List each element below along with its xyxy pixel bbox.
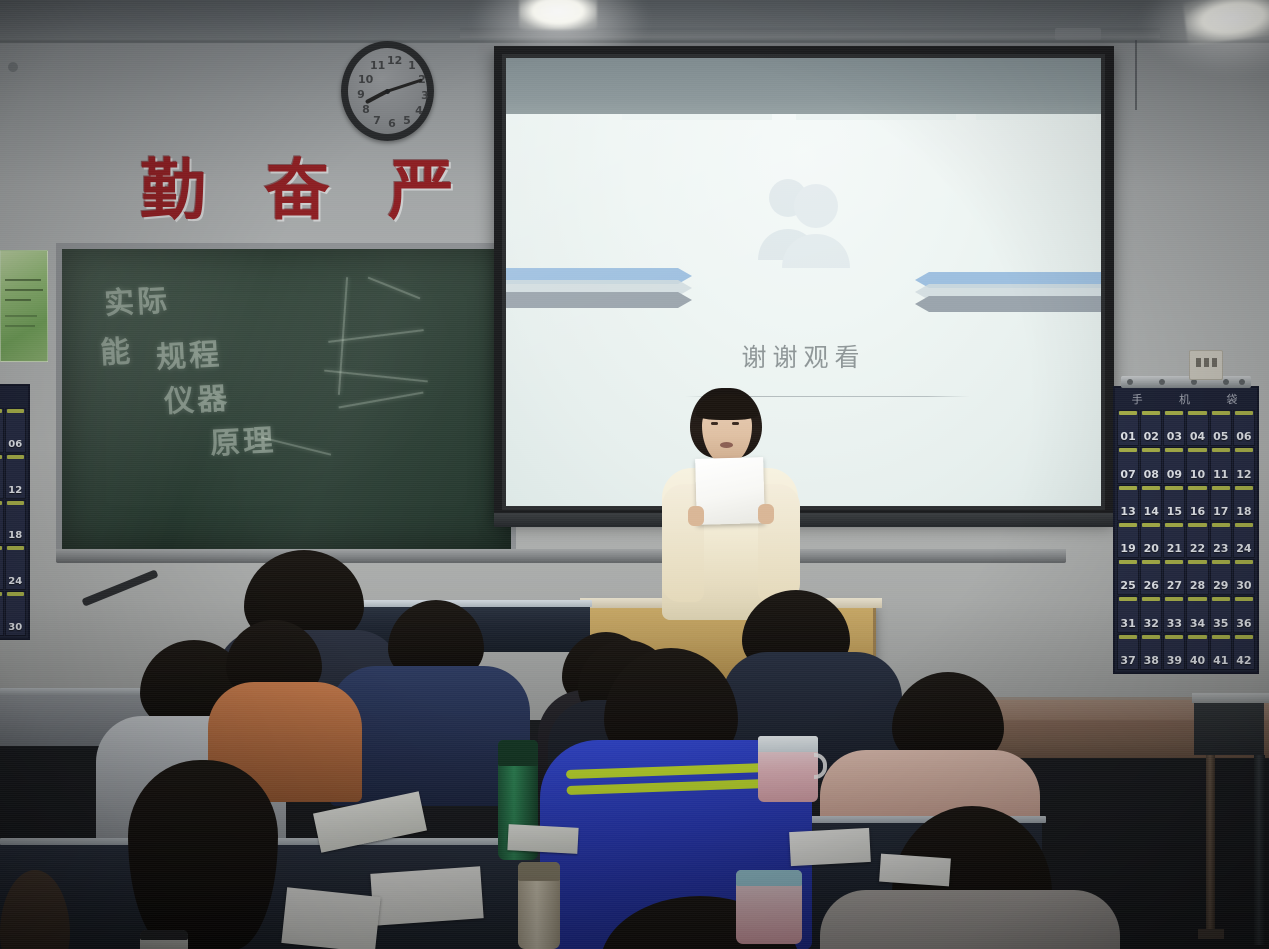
pocket-chart-header: 手 机 袋 bbox=[1115, 390, 1257, 408]
slide-banner-right bbox=[911, 270, 1101, 314]
pink-mug[interactable] bbox=[758, 736, 818, 802]
wall-fixture-dot bbox=[1120, 13, 1128, 21]
people-group-icon bbox=[744, 164, 864, 288]
phone-pocket-slot[interactable]: 05 bbox=[0, 408, 4, 453]
chalk-note: 能 bbox=[99, 326, 134, 372]
clock-numeral: 1 bbox=[405, 59, 419, 72]
pocket-header-char-3: 袋 bbox=[1226, 391, 1240, 407]
clock-numeral: 6 bbox=[385, 117, 399, 130]
student-head bbox=[128, 760, 278, 949]
power-outlet[interactable] bbox=[1189, 350, 1223, 380]
presenter-hand bbox=[688, 506, 704, 526]
microphone bbox=[81, 569, 158, 606]
clock-numeral: 10 bbox=[358, 73, 372, 86]
wall-vent bbox=[1055, 28, 1101, 40]
slide-banner-left bbox=[506, 266, 696, 310]
slogan-char-3: 严 bbox=[388, 158, 456, 224]
wall-notice-poster bbox=[0, 250, 48, 362]
phone-pocket-slot[interactable]: 14 bbox=[1140, 485, 1162, 521]
worksheet[interactable] bbox=[789, 828, 871, 866]
textbook[interactable] bbox=[507, 824, 578, 854]
wall-clock: 12 1 2 3 4 5 6 7 8 9 10 11 bbox=[341, 41, 434, 141]
clock-numeral: 4 bbox=[412, 104, 426, 117]
desk-surface bbox=[330, 600, 592, 607]
thermos-bottle[interactable] bbox=[140, 930, 188, 949]
phone-pocket-slot[interactable]: 06 bbox=[5, 408, 27, 453]
phone-pocket-slot[interactable]: 11 bbox=[0, 454, 4, 499]
slide-title: 谢谢观看 bbox=[506, 338, 1101, 374]
clock-numeral: 5 bbox=[400, 114, 414, 127]
pocket-header-char-2: 机 bbox=[1179, 391, 1193, 407]
pocket-header-char-1: 手 bbox=[1132, 391, 1146, 407]
pocket-chart-rail bbox=[1121, 376, 1251, 388]
phone-pocket-slot[interactable]: 05 bbox=[1210, 410, 1232, 446]
worksheet[interactable] bbox=[281, 887, 380, 949]
thermos-bottle[interactable] bbox=[518, 862, 560, 949]
wall-cable bbox=[1135, 40, 1137, 110]
chalk-note: 规程 bbox=[155, 329, 223, 376]
green-chalkboard: 实际 能 规程 仪器 原理 bbox=[56, 243, 516, 556]
student-torso bbox=[820, 890, 1120, 949]
phone-pocket-slot[interactable]: 04 bbox=[1186, 410, 1208, 446]
chalk-note: 实际 bbox=[103, 275, 171, 322]
pink-thermos[interactable] bbox=[736, 870, 802, 944]
slogan-char-2: 奋 bbox=[264, 158, 332, 224]
slogan-char-1: 勤 bbox=[140, 158, 208, 224]
phone-pocket-slot[interactable]: 15 bbox=[1163, 485, 1185, 521]
clock-numeral: 12 bbox=[387, 54, 401, 67]
presenter-paper bbox=[695, 457, 765, 525]
phone-pocket-slot[interactable]: 12 bbox=[1233, 447, 1255, 483]
wall-fixture-dot bbox=[8, 62, 18, 72]
phone-pocket-slot[interactable]: 03 bbox=[1163, 410, 1185, 446]
phone-pocket-slot[interactable]: 09 bbox=[1163, 447, 1185, 483]
ceiling-wall-seam bbox=[0, 40, 1269, 43]
chalk-note: 仪器 bbox=[163, 373, 231, 420]
ceiling-light-icon bbox=[519, 0, 597, 30]
clock-center-pin bbox=[385, 89, 390, 94]
phone-pocket-slot[interactable]: 01 bbox=[1117, 410, 1139, 446]
phone-pocket-slot[interactable]: 18 bbox=[5, 500, 27, 545]
phone-pocket-slot[interactable]: 13 bbox=[1117, 485, 1139, 521]
phone-pocket-slot[interactable]: 17 bbox=[1210, 485, 1232, 521]
presenter-hand bbox=[758, 504, 774, 524]
classroom-photo: 勤 奋 严 谨 12 1 2 3 4 5 6 7 8 9 10 11 实际 能 … bbox=[0, 0, 1269, 949]
seated-students bbox=[0, 540, 1269, 949]
phone-pocket-slot[interactable]: 16 bbox=[1186, 485, 1208, 521]
presenter-eye bbox=[732, 422, 739, 425]
presenter-eye bbox=[711, 422, 718, 425]
phone-pocket-slot[interactable]: 17 bbox=[0, 500, 4, 545]
clock-numeral: 3 bbox=[418, 89, 432, 102]
phone-pocket-slot[interactable]: 06 bbox=[1233, 410, 1255, 446]
phone-pocket-slot[interactable]: 08 bbox=[1140, 447, 1162, 483]
phone-pocket-slot[interactable]: 10 bbox=[1186, 447, 1208, 483]
presenter-mouth bbox=[720, 442, 733, 448]
phone-pocket-slot[interactable]: 11 bbox=[1210, 447, 1232, 483]
phone-pocket-slot[interactable]: 07 bbox=[1117, 447, 1139, 483]
worksheet[interactable] bbox=[370, 866, 483, 926]
clock-numeral: 9 bbox=[354, 88, 368, 101]
phone-pocket-slot[interactable]: 02 bbox=[1140, 410, 1162, 446]
phone-pocket-slot[interactable]: 12 bbox=[5, 454, 27, 499]
clock-numeral: 11 bbox=[370, 59, 384, 72]
phone-pocket-slot[interactable]: 18 bbox=[1233, 485, 1255, 521]
clock-numeral: 8 bbox=[359, 103, 373, 116]
worksheet[interactable] bbox=[879, 854, 951, 887]
